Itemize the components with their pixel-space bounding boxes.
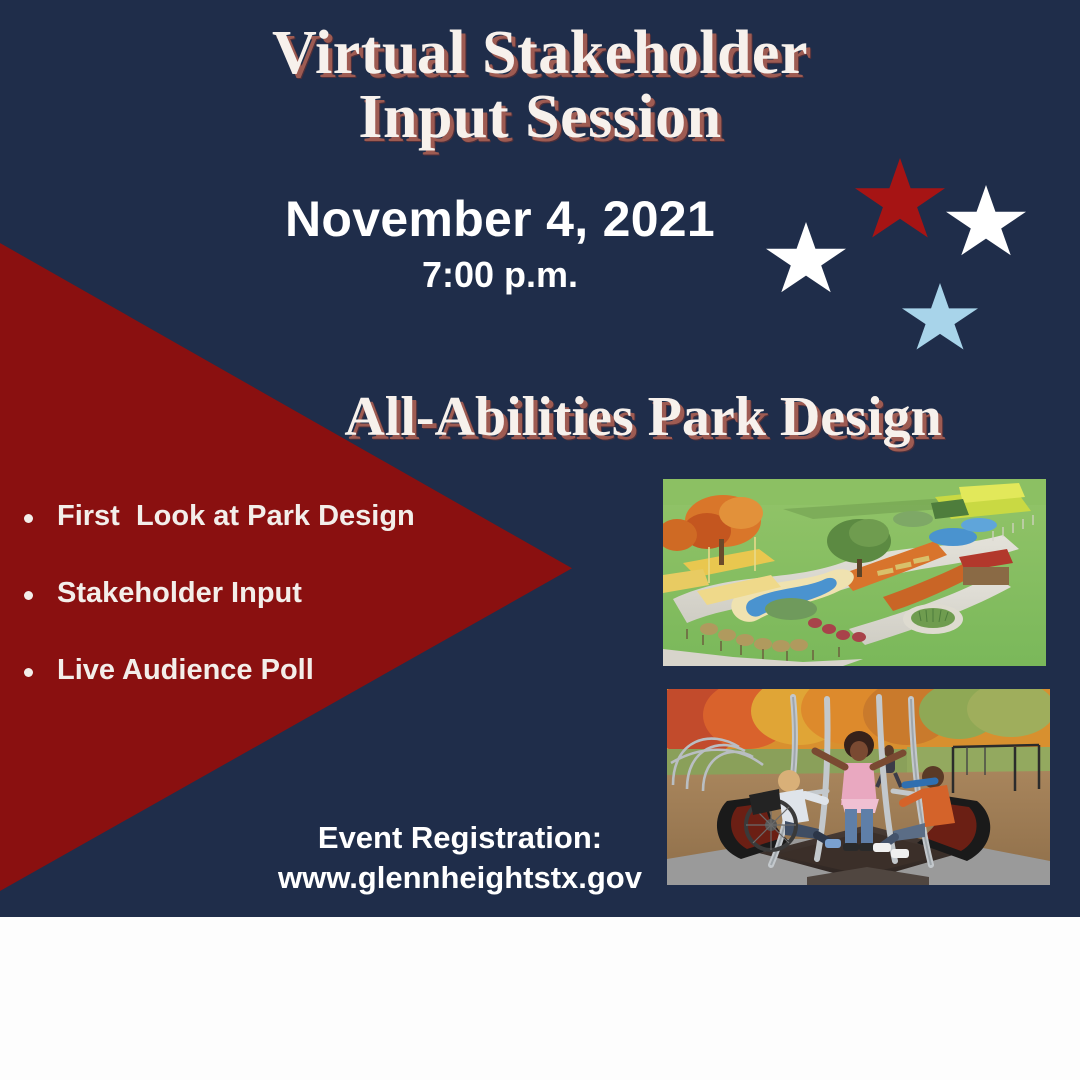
registration-label: Event Registration:	[210, 818, 710, 858]
park-design-rendering	[663, 479, 1046, 666]
list-item: Live Audience Poll	[24, 654, 544, 687]
event-time: 7:00 p.m.	[0, 254, 1000, 296]
event-datetime: November 4, 2021 7:00 p.m.	[0, 190, 1000, 296]
list-item-label: Live Audience Poll	[57, 654, 314, 687]
registration-block: Event Registration: www.glennheightstx.g…	[210, 818, 710, 897]
list-item-label: First Look at Park Design	[57, 500, 415, 533]
event-flyer: Virtual Stakeholder Input Session Novemb…	[0, 0, 1080, 1080]
park-rendering-illustration	[663, 479, 1046, 666]
event-date: November 4, 2021	[0, 190, 1000, 248]
page-subtitle-text: All-Abilities Park Design	[344, 385, 941, 449]
bullet-dot-icon	[24, 668, 33, 677]
list-item: First Look at Park Design	[24, 500, 544, 533]
agenda-list: First Look at Park Design Stakeholder In…	[24, 500, 544, 731]
bullet-dot-icon	[24, 591, 33, 600]
list-item-label: Stakeholder Input	[57, 577, 302, 610]
list-item: Stakeholder Input	[24, 577, 544, 610]
sponsor-footer: g rossman DESIGN | BUILD	[0, 917, 1080, 1080]
page-subtitle: All-Abilities Park Design	[0, 385, 1080, 449]
page-title: Virtual Stakeholder Input Session	[0, 22, 1080, 150]
bullet-dot-icon	[24, 514, 33, 523]
accessible-playground-photo	[667, 689, 1050, 885]
registration-url[interactable]: www.glennheightstx.gov	[210, 858, 710, 898]
playground-photo-illustration	[667, 689, 1050, 885]
